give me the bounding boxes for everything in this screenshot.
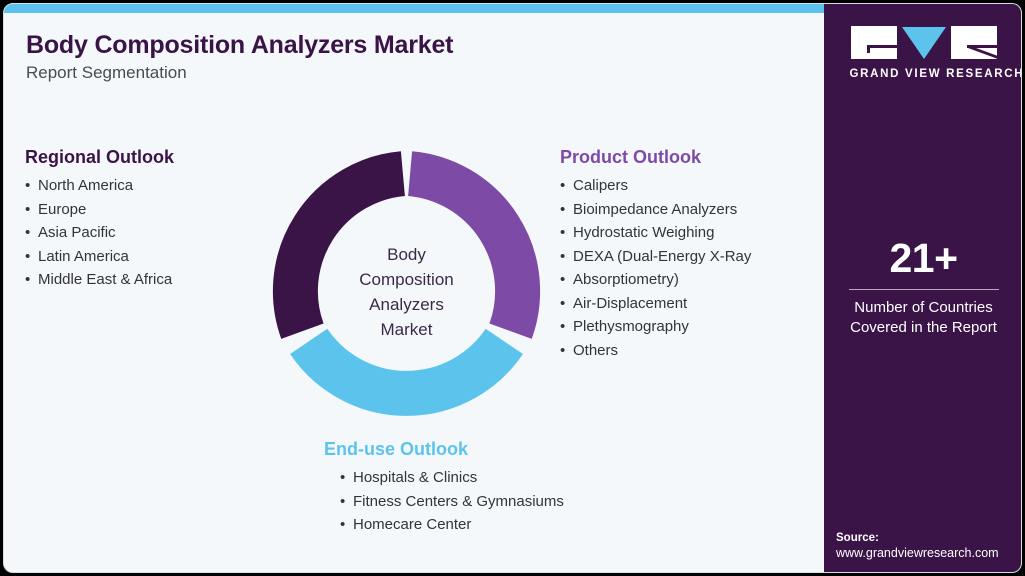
grand-view-research-logo: GRAND VIEW RESEARCH bbox=[850, 26, 998, 80]
stat-number: 21+ bbox=[824, 236, 1022, 280]
source-title: Source: bbox=[836, 532, 1022, 544]
side-panel: GRAND VIEW RESEARCH 21+ Number of Countr… bbox=[824, 4, 1022, 573]
regional-outlook-block: Regional Outlook North America Europe As… bbox=[25, 147, 260, 292]
list-item-continuation-text: Plethysmography bbox=[573, 318, 689, 335]
donut-segment-product bbox=[410, 174, 518, 332]
donut-segment-enduse bbox=[309, 341, 505, 393]
logo-r-icon bbox=[951, 26, 998, 59]
list-item: North America bbox=[25, 174, 260, 198]
stat-divider bbox=[849, 289, 999, 290]
source-url[interactable]: www.grandviewresearch.com bbox=[836, 546, 1022, 560]
list-item: Calipers bbox=[560, 174, 810, 198]
main-content-area: Body Composition Analyzers Market Report… bbox=[4, 13, 824, 573]
source-block: Source: www.grandviewresearch.com bbox=[836, 532, 1022, 560]
enduse-outlook-list: Hospitals & Clinics Fitness Centers & Gy… bbox=[324, 466, 724, 537]
product-outlook-list: Calipers Bioimpedance Analyzers Hydrosta… bbox=[560, 174, 810, 362]
stat-label-line-2: Covered in the Report bbox=[824, 318, 1022, 338]
logo-wordmark: GRAND VIEW RESEARCH bbox=[850, 68, 998, 80]
list-item: Bioimpedance Analyzers bbox=[560, 198, 810, 222]
product-outlook-block: Product Outlook Calipers Bioimpedance An… bbox=[560, 147, 810, 362]
logo-g-icon bbox=[851, 26, 898, 59]
enduse-outlook-heading: End-use Outlook bbox=[324, 439, 724, 460]
infographic-card: Body Composition Analyzers Market Report… bbox=[3, 3, 1022, 573]
infographic-root: Body Composition Analyzers Market Report… bbox=[0, 0, 1025, 576]
regional-outlook-list: North America Europe Asia Pacific Latin … bbox=[25, 174, 260, 292]
product-outlook-heading: Product Outlook bbox=[560, 147, 810, 168]
list-item: Air-Displacement bbox=[560, 292, 810, 316]
page-subtitle: Report Segmentation bbox=[26, 63, 187, 83]
regional-outlook-heading: Regional Outlook bbox=[25, 147, 260, 168]
top-accent-strip bbox=[4, 4, 824, 13]
list-item: Fitness Centers & Gymnasiums bbox=[340, 490, 724, 514]
list-item: Latin America bbox=[25, 245, 260, 269]
list-item-continuation: Absorptiometry) bbox=[560, 268, 810, 292]
segmentation-donut-chart: Body Composition Analyzers Market bbox=[266, 151, 547, 432]
enduse-outlook-block: End-use Outlook Hospitals & Clinics Fitn… bbox=[324, 439, 724, 537]
list-item: Others bbox=[560, 339, 810, 363]
list-item-continuation: Plethysmography bbox=[560, 315, 810, 339]
list-item: Middle East & Africa bbox=[25, 268, 260, 292]
stat-label-line-1: Number of Countries bbox=[824, 298, 1022, 318]
list-item-continuation-text: Absorptiometry) bbox=[573, 271, 679, 288]
donut-segment-regional bbox=[295, 174, 403, 332]
logo-v-triangle-icon bbox=[902, 27, 946, 59]
page-title: Body Composition Analyzers Market bbox=[26, 31, 453, 60]
list-item: Europe bbox=[25, 198, 260, 222]
countries-stat-block: 21+ Number of Countries Covered in the R… bbox=[824, 236, 1022, 338]
list-item: Hospitals & Clinics bbox=[340, 466, 724, 490]
logo-marks bbox=[850, 26, 998, 60]
list-item: DEXA (Dual-Energy X-Ray bbox=[560, 245, 810, 269]
list-item: Homecare Center bbox=[340, 513, 724, 537]
list-item: Hydrostatic Weighing bbox=[560, 221, 810, 245]
list-item: Asia Pacific bbox=[25, 221, 260, 245]
